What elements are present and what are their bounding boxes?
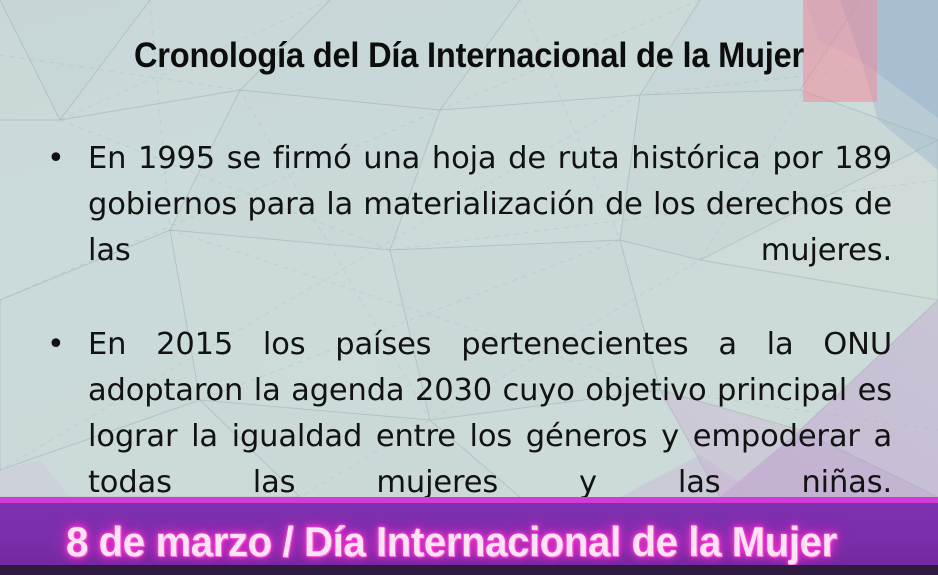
bullet-marker-icon: • [40, 136, 88, 182]
bullet-text: En 1995 se firmó una hoja de ruta histór… [88, 136, 892, 320]
footer-bottom-strip [0, 565, 938, 575]
footer-band: 8 de marzo / Día Internacional de la Muj… [0, 503, 938, 565]
list-item: • En 1995 se firmó una hoja de ruta hist… [40, 136, 892, 320]
footer-banner: 8 de marzo / Día Internacional de la Muj… [0, 497, 938, 575]
slide: Cronología del Día Internacional de la M… [0, 0, 938, 575]
bullet-marker-icon: • [40, 322, 88, 368]
bullet-list: • En 1995 se firmó una hoja de ruta hist… [40, 136, 892, 554]
footer-title: 8 de marzo / Día Internacional de la Muj… [66, 514, 837, 570]
page-title: Cronología del Día Internacional de la M… [33, 36, 905, 76]
